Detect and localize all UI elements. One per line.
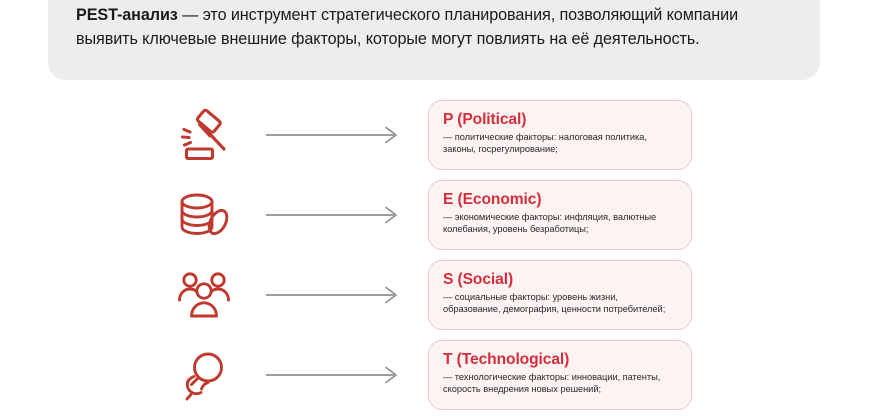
- arrow-right-icon: [266, 206, 402, 226]
- card-description: — социальные факторы: уровень жизни, обр…: [443, 292, 677, 315]
- card-description: — технологические факторы: инновации, па…: [443, 372, 677, 395]
- pest-rows: P (Political) — политические факторы: на…: [0, 96, 870, 416]
- gavel-icon: [168, 104, 240, 168]
- card-description: — экономические факторы: инфляция, валют…: [443, 212, 677, 235]
- pest-row: E (Economic) — экономические факторы: ин…: [0, 176, 870, 256]
- arrow-right-icon: [266, 126, 402, 146]
- arrow-right-icon: [266, 366, 402, 386]
- pest-card-political[interactable]: P (Political) — политические факторы: на…: [428, 100, 692, 170]
- intro-banner-text: PEST-анализ — это инструмент стратегичес…: [76, 4, 792, 51]
- people-group-icon: [168, 264, 240, 328]
- card-description: — политические факторы: налоговая полити…: [443, 132, 677, 155]
- card-title: E (Economic): [443, 190, 677, 209]
- coins-stack-icon: [168, 184, 240, 248]
- arrow-right-icon: [266, 286, 402, 306]
- pest-row: T (Technological) — технологические факт…: [0, 336, 870, 416]
- pest-card-economic[interactable]: E (Economic) — экономические факторы: ин…: [428, 180, 692, 250]
- pest-row: P (Political) — политические факторы: на…: [0, 96, 870, 176]
- intro-banner: PEST-анализ — это инструмент стратегичес…: [48, 0, 820, 80]
- card-title: P (Political): [443, 110, 677, 129]
- pest-card-social[interactable]: S (Social) — социальные факторы: уровень…: [428, 260, 692, 330]
- card-title: S (Social): [443, 270, 677, 289]
- intro-banner-lead: PEST-анализ: [76, 6, 178, 24]
- pest-row: S (Social) — социальные факторы: уровень…: [0, 256, 870, 336]
- card-title: T (Technological): [443, 350, 677, 369]
- lightbulb-icon: [168, 344, 240, 408]
